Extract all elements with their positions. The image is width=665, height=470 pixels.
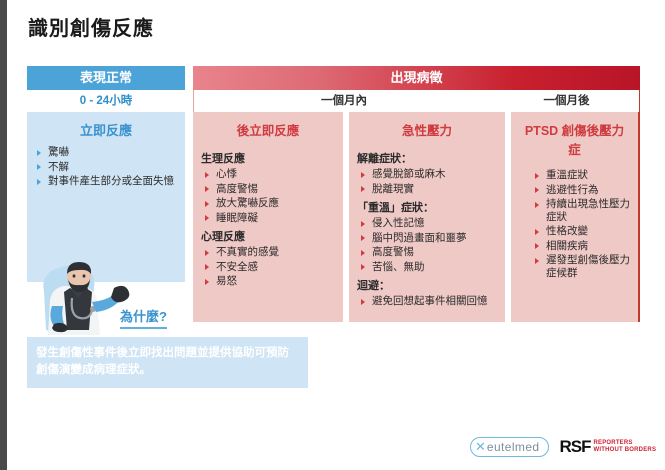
footer-logos: ✕ eutelmed RSF REPORTERS WITHOUT BORDERS xyxy=(470,437,656,457)
list-item: 睡眠障礙 xyxy=(203,212,335,225)
symptom-sub-within-month: 一個月內 xyxy=(194,90,494,112)
list-item: 逃避性行為 xyxy=(533,184,630,197)
normal-timeframe: 0 - 24小時 xyxy=(27,90,185,112)
list-item: 持續出現急性壓力症狀 xyxy=(533,198,630,223)
list-item: 侵入性記憶 xyxy=(359,217,497,230)
group-item-list: 避免回想起事件相關回憶 xyxy=(357,295,497,308)
list-item: 脫離現實 xyxy=(359,183,497,196)
page-title: 識別創傷反應 xyxy=(28,12,154,41)
eutelmed-wordmark: eutelmed xyxy=(487,440,540,454)
card-title: 急性壓力 xyxy=(357,117,497,146)
column-group-symptoms: 出現病徵 一個月內 一個月後 後立即反應 生理反應 心悸 高度警惕 放大驚嚇反應… xyxy=(193,66,640,322)
group-item-list: 感覺脫節或麻木 脫離現實 xyxy=(357,168,497,195)
normal-item-list: 驚嚇 不解 對事件產生部分或全面失憶 xyxy=(27,146,185,188)
card-title: PTSD 創傷後壓力症 xyxy=(519,117,630,165)
slide-left-accent-bar xyxy=(0,0,7,470)
eutelmed-x-icon: ✕ xyxy=(475,439,486,455)
group-heading: 生理反應 xyxy=(201,150,335,166)
rsf-monogram: RSF xyxy=(559,437,590,457)
list-item: 不真實的感覺 xyxy=(203,246,335,259)
list-item: 對事件產生部分或全面失憶 xyxy=(35,175,175,188)
list-item: 高度警惕 xyxy=(359,246,497,259)
group-item-list: 侵入性記憶 腦中閃過畫面和噩夢 高度警惕 苦惱、無助 xyxy=(357,217,497,273)
symptom-subheader-row: 一個月內 一個月後 xyxy=(193,90,640,112)
group-heading: 「重溫」症狀： xyxy=(357,199,497,215)
list-item: 不安全感 xyxy=(203,261,335,274)
list-item: 性格改變 xyxy=(533,225,630,238)
normal-column-title: 立即反應 xyxy=(27,118,185,146)
why-explanation-text: 發生創傷性事件後立即找出問題並提供協助可預防創傷演變成病理症狀。 xyxy=(27,337,308,388)
list-item: 心悸 xyxy=(203,168,335,181)
list-item: 重溫症狀 xyxy=(533,169,630,182)
group-heading: 心理反應 xyxy=(201,228,335,244)
list-item: 腦中閃過畫面和噩夢 xyxy=(359,232,497,245)
card-title: 後立即反應 xyxy=(201,117,335,146)
list-item: 遲發型創傷後壓力症候群 xyxy=(533,254,630,279)
list-item: 驚嚇 xyxy=(35,146,175,159)
list-item: 避免回想起事件相關回憶 xyxy=(359,295,497,308)
list-item: 易怒 xyxy=(203,275,335,288)
why-label: 為什麼? xyxy=(120,306,167,329)
list-item: 苦惱、無助 xyxy=(359,261,497,274)
rsf-logo: RSF REPORTERS WITHOUT BORDERS xyxy=(559,437,656,457)
group-item-list: 不真實的感覺 不安全感 易怒 xyxy=(201,246,335,288)
group-item-list: 重溫症狀 逃避性行為 持續出現急性壓力症狀 性格改變 相關疾病 遲發型創傷後壓力… xyxy=(519,169,630,279)
card-ptsd: PTSD 創傷後壓力症 重溫症狀 逃避性行為 持續出現急性壓力症狀 性格改變 相… xyxy=(511,112,640,322)
group-heading: 解離症狀： xyxy=(357,150,497,166)
rsf-wordmark-line2: WITHOUT BORDERS xyxy=(593,447,656,454)
list-item: 放大驚嚇反應 xyxy=(203,197,335,210)
eutelmed-logo: ✕ eutelmed xyxy=(470,437,549,457)
list-item: 相關疾病 xyxy=(533,240,630,253)
symptom-header: 出現病徵 xyxy=(193,66,640,90)
column-normal: 表現正常 0 - 24小時 立即反應 驚嚇 不解 對事件產生部分或全面失憶 xyxy=(27,66,185,282)
card-immediate-after: 後立即反應 生理反應 心悸 高度警惕 放大驚嚇反應 睡眠障礙 心理反應 不真實的… xyxy=(193,112,343,322)
symptom-sub-after-month: 一個月後 xyxy=(494,90,639,112)
symptom-card-row: 後立即反應 生理反應 心悸 高度警惕 放大驚嚇反應 睡眠障礙 心理反應 不真實的… xyxy=(193,112,640,322)
list-item: 不解 xyxy=(35,161,175,174)
list-item: 感覺脫節或麻木 xyxy=(359,168,497,181)
normal-body: 立即反應 驚嚇 不解 對事件產生部分或全面失憶 xyxy=(27,112,185,282)
rsf-wordmark-line1: REPORTERS xyxy=(593,440,656,447)
normal-header: 表現正常 xyxy=(27,66,185,90)
group-item-list: 心悸 高度警惕 放大驚嚇反應 睡眠障礙 xyxy=(201,168,335,224)
group-heading: 迴避： xyxy=(357,277,497,293)
card-acute-stress: 急性壓力 解離症狀： 感覺脫節或麻木 脫離現實 「重溫」症狀： 侵入性記憶 腦中… xyxy=(349,112,505,322)
rsf-wordmark: REPORTERS WITHOUT BORDERS xyxy=(593,440,656,454)
list-item: 高度警惕 xyxy=(203,183,335,196)
